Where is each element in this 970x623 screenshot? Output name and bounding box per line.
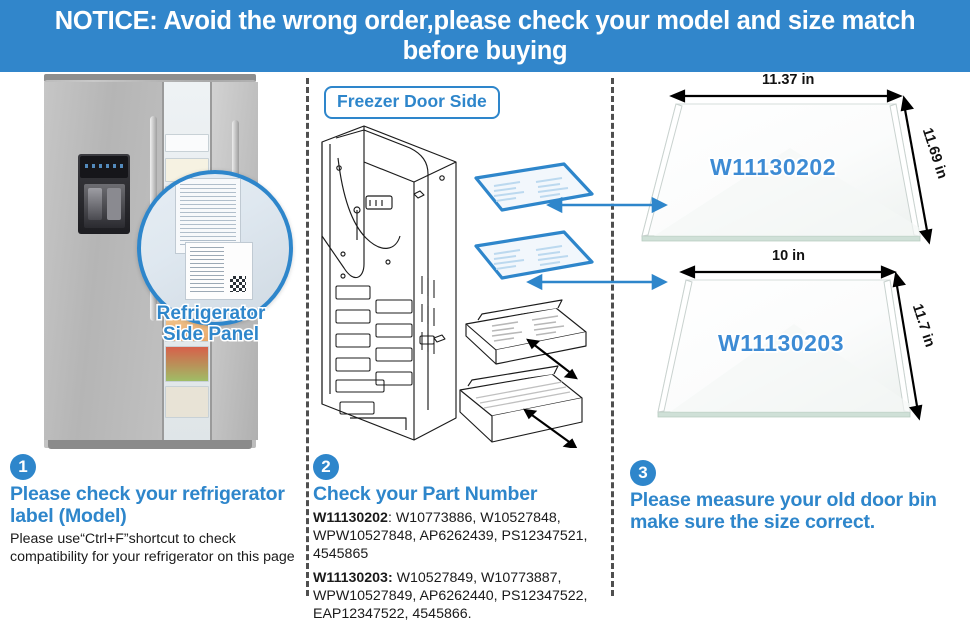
barcode-icon	[230, 276, 246, 292]
door-tray-upper	[466, 300, 586, 364]
step-2-badge: 2	[313, 454, 339, 480]
refrigerator-base	[48, 440, 252, 449]
step-1-title: Please check your refrigerator label (Mo…	[10, 483, 298, 527]
dispenser-cavity	[84, 184, 125, 228]
callout-caption-line2: Side Panel	[126, 325, 296, 346]
panel-measure-door-bin: 11.37 in 11.69 in W11130202	[614, 72, 970, 600]
step-3-badge: 3	[630, 460, 656, 486]
freezer-door-side-tag: Freezer Door Side	[324, 86, 500, 119]
step-1-title-line1: Please check your refrigerator	[10, 483, 298, 505]
shelf-lower-width-label: 10 in	[772, 248, 805, 264]
part-entry: W11130202: W10773886, W10527848, WPW1052…	[313, 509, 611, 564]
step-1-title-line2: label (Model)	[10, 505, 298, 527]
part-separator: :	[388, 510, 392, 526]
part-number-list: W11130202: W10773886, W10527848, WPW1052…	[313, 509, 611, 623]
interior-shelf	[165, 346, 209, 382]
step-1-badge: 1	[10, 454, 36, 480]
door-bin-lower	[460, 366, 582, 442]
serial-label-sticker	[185, 242, 253, 300]
connector-arrow-upper	[545, 185, 675, 225]
notice-text: NOTICE: Avoid the wrong order,please che…	[35, 6, 935, 66]
connector-arrow-lower	[525, 262, 675, 302]
shelf-diagram-upper: 11.37 in 11.69 in W11130202	[614, 78, 970, 258]
column-divider-left	[306, 78, 309, 596]
control-panel-display	[80, 156, 128, 178]
step-3: 3 Please measure your old door bin make …	[630, 460, 960, 533]
step-3-title-line1: Please measure your old door bin	[630, 489, 960, 511]
shelf-upper-part-number: W11130202	[710, 154, 836, 181]
part-number-id: W11130202	[313, 510, 388, 526]
step-1: 1 Please check your refrigerator label (…	[10, 454, 298, 566]
step-1-body: Please use“Ctrl+F”shortcut to check comp…	[10, 530, 298, 566]
shelf-upper-width-label: 11.37 in	[762, 72, 814, 88]
step-2-title: Check your Part Number	[313, 483, 611, 505]
part-number-id: W11130203	[313, 570, 388, 586]
interior-shelf	[165, 134, 209, 152]
part-separator: :	[388, 570, 393, 586]
panel-refrigerator-label: Refrigerator Side Panel 1 Please check y…	[0, 72, 306, 600]
part-entry: W11130203: W10527849, W10773887, WPW1052…	[313, 569, 611, 623]
callout-caption: Refrigerator Side Panel	[126, 304, 296, 345]
callout-caption-line1: Refrigerator	[126, 304, 296, 325]
shelf-lower-part-number: W11130203	[718, 330, 844, 357]
interior-shelf	[165, 386, 209, 418]
infographic-page: NOTICE: Avoid the wrong order,please che…	[0, 0, 970, 600]
step-3-title-line2: make sure the size correct.	[630, 511, 960, 533]
panel-freezer-door: Freezer Door Side	[310, 72, 610, 600]
step-2: 2 Check your Part Number W11130202: W107…	[313, 454, 611, 623]
notice-banner: NOTICE: Avoid the wrong order,please che…	[0, 0, 970, 72]
step-3-title: Please measure your old door bin make su…	[630, 489, 960, 533]
